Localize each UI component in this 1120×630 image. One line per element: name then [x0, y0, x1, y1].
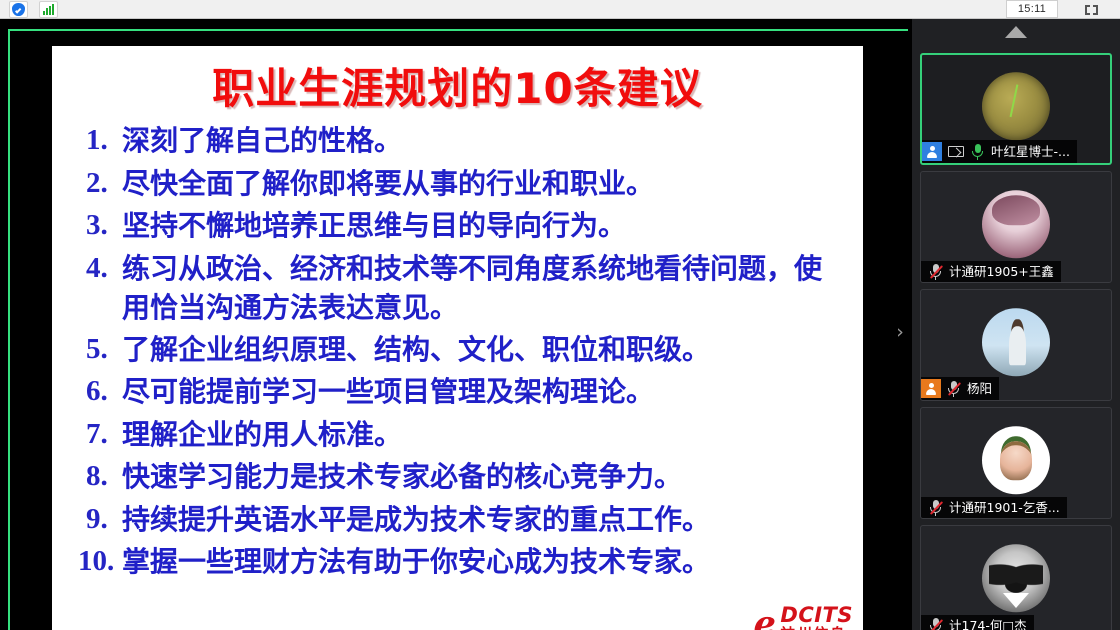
list-item-number: 8. [70, 457, 122, 496]
list-item-number: 6. [70, 372, 122, 411]
mic-on-icon [971, 143, 984, 160]
logo-name-en: DCITS [780, 605, 853, 626]
signal-glyph [43, 4, 54, 15]
shared-screen-stage: 职业生涯规划的10条建议 1. 深刻了解自己的性格。 2. 尽快全面了解你即将要… [0, 19, 912, 630]
list-item-number: 1. [70, 121, 122, 160]
participant-name-bar: 杨阳 [921, 377, 999, 400]
mic-off-icon [929, 499, 942, 516]
avatar [982, 308, 1050, 376]
participant-tile[interactable]: 计通研1901-乞香... [920, 407, 1112, 519]
list-item: 7. 理解企业的用人标准。 [70, 415, 849, 454]
participant-tile[interactable]: 杨阳 [920, 289, 1112, 401]
person-icon [922, 142, 942, 161]
meeting-window: 15:11 职业生涯规划的10条建议 1. 深刻了解自己的性格。 2. 尽快全面… [0, 0, 1120, 630]
shield-glyph [12, 3, 25, 16]
list-item: 1. 深刻了解自己的性格。 [70, 121, 849, 160]
participant-name-bar: 叶红星博士-... [922, 140, 1077, 163]
list-item: 5. 了解企业组织原理、结构、文化、职位和职级。 [70, 330, 849, 369]
list-item-text: 掌握一些理财方法有助于你安心成为技术专家。 [122, 542, 849, 581]
list-item-text: 了解企业组织原理、结构、文化、职位和职级。 [122, 330, 849, 369]
fullscreen-icon[interactable] [1076, 1, 1106, 18]
slide-bullet-list: 1. 深刻了解自己的性格。 2. 尽快全面了解你即将要从事的行业和职业。 3. … [52, 117, 863, 581]
screen-share-icon [948, 145, 965, 159]
list-item-text: 练习从政治、经济和技术等不同角度系统地看待问题，使用恰当沟通方法表达意见。 [122, 249, 849, 327]
list-item-number: 2. [70, 164, 122, 203]
scroll-up-arrow-icon[interactable] [1005, 26, 1027, 38]
signal-bars-icon[interactable] [39, 1, 58, 18]
participant-tile[interactable]: 计174-何□杰 [920, 525, 1112, 630]
participant-name-bar: 计通研1905+王鑫 [921, 261, 1061, 282]
list-item: 8. 快速学习能力是技术专家必备的核心竞争力。 [70, 457, 849, 496]
dcits-logo: e DCITS 神州信息 [754, 605, 853, 630]
slide-title: 职业生涯规划的10条建议 [52, 46, 863, 117]
avatar [982, 190, 1050, 258]
list-item: 2. 尽快全面了解你即将要从事的行业和职业。 [70, 164, 849, 203]
fullscreen-glyph [1085, 5, 1098, 15]
list-item: 6. 尽可能提前学习一些项目管理及架构理论。 [70, 372, 849, 411]
list-item-text: 持续提升英语水平是成为技术专家的重点工作。 [122, 500, 849, 539]
avatar [982, 72, 1050, 140]
list-item-text: 尽可能提前学习一些项目管理及架构理论。 [122, 372, 849, 411]
logo-text: DCITS 神州信息 [780, 605, 853, 630]
participant-name-bar: 计通研1901-乞香... [921, 497, 1067, 518]
list-item-number: 7. [70, 415, 122, 454]
list-item-number: 10. [70, 542, 122, 581]
list-item-number: 3. [70, 206, 122, 245]
participant-name: 叶红星博士-... [989, 143, 1070, 160]
list-item: 10. 掌握一些理财方法有助于你安心成为技术专家。 [70, 542, 849, 581]
list-item-text: 理解企业的用人标准。 [122, 415, 849, 454]
scroll-down-arrow-icon[interactable] [1003, 593, 1029, 608]
logo-mark-icon: e [752, 607, 777, 630]
list-item-number: 4. [70, 249, 122, 288]
shield-icon[interactable] [9, 1, 28, 18]
participant-name: 杨阳 [965, 380, 992, 397]
list-item-text: 快速学习能力是技术专家必备的核心竞争力。 [122, 457, 849, 496]
presentation-slide: 职业生涯规划的10条建议 1. 深刻了解自己的性格。 2. 尽快全面了解你即将要… [52, 46, 863, 630]
list-item-text: 尽快全面了解你即将要从事的行业和职业。 [122, 164, 849, 203]
list-item-number: 5. [70, 330, 122, 369]
participant-name: 计174-何□杰 [947, 617, 1027, 630]
mic-off-icon [929, 263, 942, 280]
participant-name-bar: 计174-何□杰 [921, 615, 1034, 630]
clock: 15:11 [1006, 0, 1058, 18]
list-item-text: 深刻了解自己的性格。 [122, 121, 849, 160]
participant-tile[interactable]: 计通研1905+王鑫 [920, 171, 1112, 283]
mic-off-icon [947, 380, 960, 397]
list-item-text: 坚持不懈地培养正思维与目的导向行为。 [122, 206, 849, 245]
mic-off-icon [929, 617, 942, 630]
list-item: 3. 坚持不懈地培养正思维与目的导向行为。 [70, 206, 849, 245]
participant-name: 计通研1901-乞香... [947, 499, 1060, 516]
person-icon [921, 379, 941, 398]
list-item-number: 9. [70, 500, 122, 539]
participants-rail: 叶红星博士-... 计通研1905+王鑫 [912, 19, 1120, 630]
avatar [982, 426, 1050, 494]
participant-tile[interactable]: 叶红星博士-... [920, 53, 1112, 165]
participant-name: 计通研1905+王鑫 [947, 263, 1054, 280]
system-toolbar: 15:11 [0, 0, 1120, 19]
chevron-right-icon[interactable]: › [892, 319, 908, 345]
list-item: 9. 持续提升英语水平是成为技术专家的重点工作。 [70, 500, 849, 539]
list-item: 4. 练习从政治、经济和技术等不同角度系统地看待问题，使用恰当沟通方法表达意见。 [70, 249, 849, 327]
